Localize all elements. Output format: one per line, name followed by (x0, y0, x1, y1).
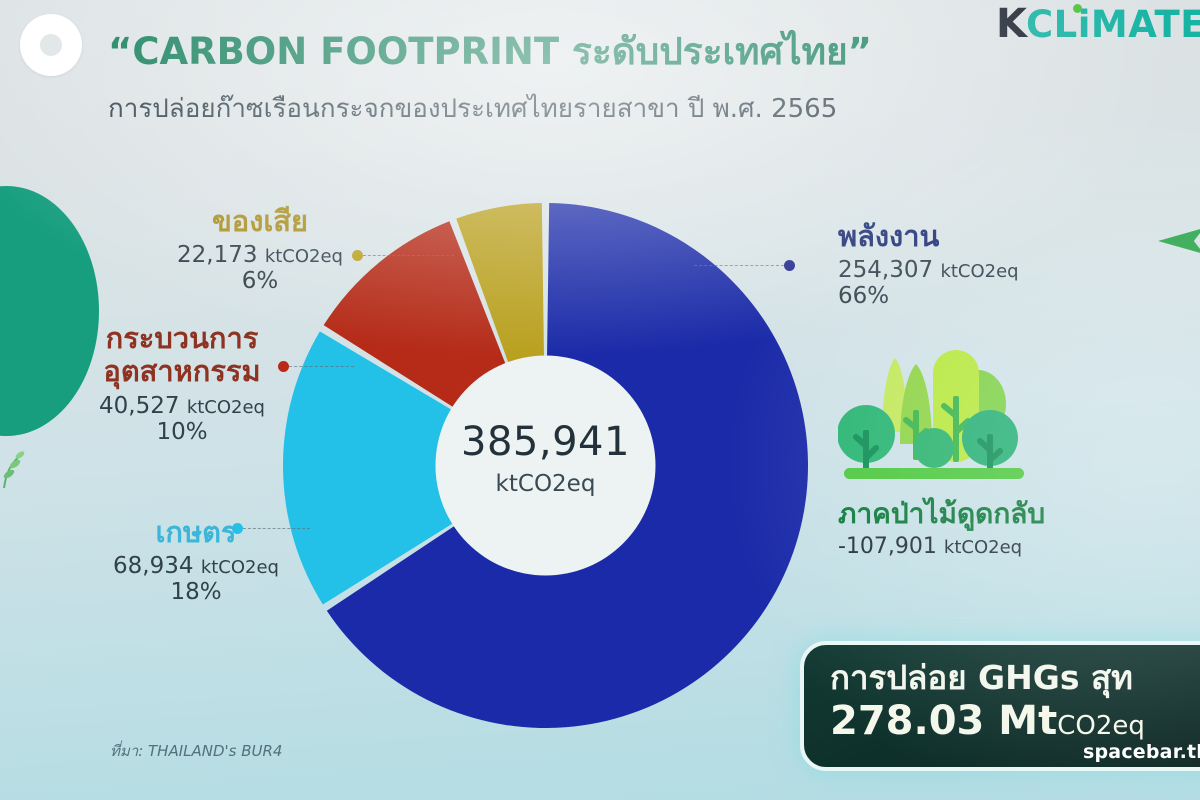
callout-unit-main: Mt (984, 698, 1057, 744)
label-energy: พลังงาน 254,307 ktCO2eq 66% (838, 220, 1019, 309)
label-energy-number: 254,307 (838, 257, 933, 283)
net-emissions-callout: การปล่อย GHGs สุท 278.03 MtCO2eq spaceba… (800, 641, 1200, 771)
label-industrial-name-line2: อุตสาหกรรม (72, 355, 292, 388)
label-waste-value: 22,173 ktCO2eq (150, 242, 370, 268)
callout-unit-sub: CO2eq (1057, 711, 1145, 741)
label-waste-name: ของเสีย (150, 205, 370, 238)
callout-headline: การปล่อย GHGs สุท (830, 659, 1200, 697)
label-agriculture-number: 68,934 (113, 553, 193, 579)
label-forest-number: -107,901 (838, 534, 937, 559)
label-energy-unit: ktCO2eq (940, 261, 1018, 282)
page-subtitle: การปล่อยก๊าซเรือนกระจกของประเทศไทยรายสาข… (108, 88, 1008, 129)
logo-wordmark: CLiMATE (1026, 6, 1200, 43)
label-agriculture: เกษตร 68,934 ktCO2eq 18% (86, 516, 306, 605)
label-waste-number: 22,173 (177, 242, 257, 268)
label-waste-percent: 6% (150, 268, 370, 294)
connector-line-waste (363, 255, 454, 256)
label-forest-sink: ภาคป่าไม้ดูดกลับ -107,901 ktCO2eq (838, 498, 1045, 559)
label-agriculture-name: เกษตร (86, 516, 306, 549)
donut-center-unit: ktCO2eq (283, 471, 808, 497)
label-industrial-processes: กระบวนการ อุตสาหกรรม 40,527 ktCO2eq 10% (72, 322, 292, 445)
label-industrial-number: 40,527 (99, 393, 179, 419)
label-energy-value: 254,307 ktCO2eq (838, 257, 1019, 283)
label-agriculture-percent: 18% (86, 579, 306, 605)
label-energy-name: พลังงาน (838, 220, 1019, 253)
label-waste: ของเสีย 22,173 ktCO2eq 6% (150, 205, 370, 294)
page-title: “CARBON FOOTPRINT ระดับประเทศไทย” (108, 22, 1008, 81)
label-forest-value: -107,901 ktCO2eq (838, 534, 1045, 559)
watermark: spacebar.th (1083, 741, 1200, 763)
label-agriculture-value: 68,934 ktCO2eq (86, 553, 306, 579)
donut-center-hole (436, 356, 656, 576)
connector-line-energy (694, 265, 784, 266)
label-forest-name: ภาคป่าไม้ดูดกลับ (838, 498, 1045, 530)
connector-line-industrial (289, 366, 354, 367)
connector-dot-energy (784, 260, 795, 271)
label-waste-unit: ktCO2eq (265, 246, 343, 267)
connector-energy (694, 265, 798, 266)
label-agriculture-unit: ktCO2eq (201, 557, 279, 578)
callout-value-row: 278.03 MtCO2eq (830, 699, 1200, 743)
forest-trees-icon (838, 336, 1034, 488)
label-industrial-name-line1: กระบวนการ (72, 322, 292, 355)
donut-center-value: 385,941 (283, 419, 808, 465)
logo-wordmark-text: CLiMATE (1026, 3, 1200, 46)
kclimate-logo: K CLiMATE (996, 2, 1200, 46)
donut-ring-icon (20, 14, 82, 76)
label-forest-unit: ktCO2eq (944, 537, 1022, 558)
label-industrial-percent: 10% (72, 419, 292, 445)
label-energy-percent: 66% (838, 283, 1019, 309)
green-leaf-arrow-icon (1158, 228, 1200, 254)
logo-green-dot-icon (1073, 4, 1082, 13)
label-industrial-value: 40,527 ktCO2eq (72, 393, 292, 419)
callout-value: 278.03 (830, 698, 984, 744)
source-note: ที่มา: THAILAND's BUR4 (110, 739, 282, 763)
small-leaves-icon (0, 438, 26, 490)
infographic-board: K CLiMATE “CARBON FOOTPRINT ระดับประเทศไ… (0, 0, 1200, 800)
label-industrial-unit: ktCO2eq (187, 397, 265, 418)
